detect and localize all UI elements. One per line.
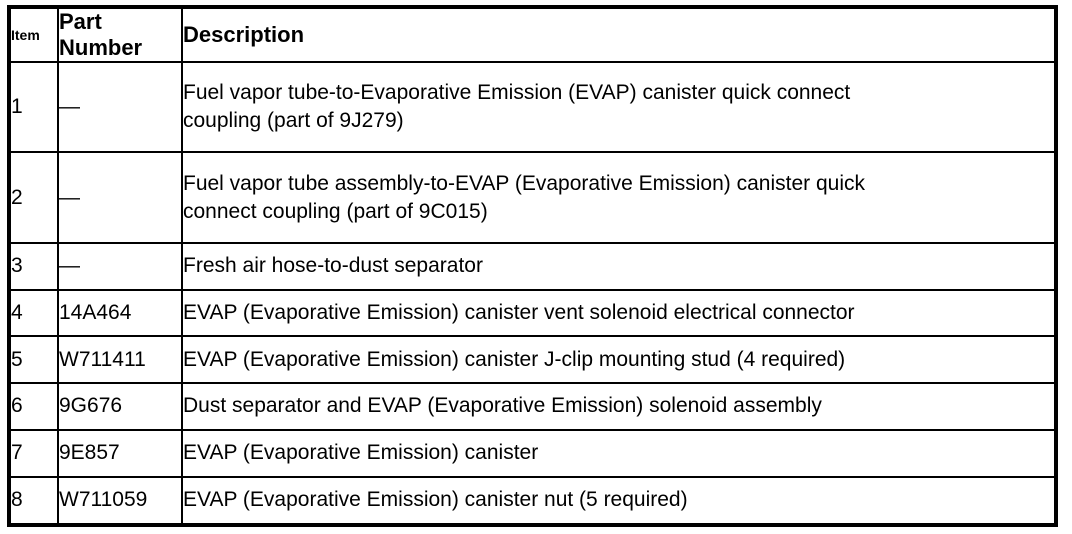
cell-description: EVAP (Evaporative Emission) canister J-c… [182, 336, 1056, 383]
column-header-description: Description [182, 7, 1056, 62]
cell-part-number: 14A464 [58, 290, 182, 337]
table-row: 6 9G676 Dust separator and EVAP (Evapora… [9, 383, 1056, 430]
cell-item: 4 [9, 290, 58, 337]
cell-description: Dust separator and EVAP (Evaporative Emi… [182, 383, 1056, 430]
parts-table-container: Item Part Number Description 1 — Fuel va… [7, 5, 1058, 527]
cell-item: 2 [9, 152, 58, 242]
cell-part-number: — [58, 152, 182, 242]
description-line: Dust separator and EVAP (Evaporative Emi… [183, 392, 1054, 420]
table-row: 5 W711411 EVAP (Evaporative Emission) ca… [9, 336, 1056, 383]
description-line: EVAP (Evaporative Emission) canister nut… [183, 486, 1054, 514]
description-line: EVAP (Evaporative Emission) canister [183, 439, 1054, 467]
cell-description: EVAP (Evaporative Emission) canister ven… [182, 290, 1056, 337]
description-line: Fuel vapor tube assembly-to-EVAP (Evapor… [183, 170, 1054, 198]
column-header-part-number-line2: Number [59, 35, 181, 61]
table-row: 1 — Fuel vapor tube-to-Evaporative Emiss… [9, 62, 1056, 152]
description-line: Fresh air hose-to-dust separator [183, 252, 1054, 280]
cell-item: 7 [9, 430, 58, 477]
description-line: EVAP (Evaporative Emission) canister ven… [183, 299, 1054, 327]
table-row: 8 W711059 EVAP (Evaporative Emission) ca… [9, 477, 1056, 525]
cell-part-number: W711411 [58, 336, 182, 383]
description-line: EVAP (Evaporative Emission) canister J-c… [183, 346, 1054, 374]
column-header-part-number: Part Number [58, 7, 182, 62]
cell-description: Fuel vapor tube-to-Evaporative Emission … [182, 62, 1056, 152]
table-row: 2 — Fuel vapor tube assembly-to-EVAP (Ev… [9, 152, 1056, 242]
cell-item: 5 [9, 336, 58, 383]
cell-description: Fuel vapor tube assembly-to-EVAP (Evapor… [182, 152, 1056, 242]
description-line: connect coupling (part of 9C015) [183, 198, 1054, 226]
header-row: Item Part Number Description [9, 7, 1056, 62]
table-row: 7 9E857 EVAP (Evaporative Emission) cani… [9, 430, 1056, 477]
cell-item: 8 [9, 477, 58, 525]
table-body: 1 — Fuel vapor tube-to-Evaporative Emiss… [9, 62, 1056, 525]
table-row: 4 14A464 EVAP (Evaporative Emission) can… [9, 290, 1056, 337]
cell-description: Fresh air hose-to-dust separator [182, 243, 1056, 290]
cell-part-number: 9E857 [58, 430, 182, 477]
cell-part-number: — [58, 243, 182, 290]
cell-item: 6 [9, 383, 58, 430]
cell-part-number: W711059 [58, 477, 182, 525]
cell-item: 1 [9, 62, 58, 152]
cell-part-number: 9G676 [58, 383, 182, 430]
table-row: 3 — Fresh air hose-to-dust separator [9, 243, 1056, 290]
cell-description: EVAP (Evaporative Emission) canister [182, 430, 1056, 477]
column-header-item: Item [9, 7, 58, 62]
description-line: coupling (part of 9J279) [183, 107, 1054, 135]
cell-part-number: — [58, 62, 182, 152]
cell-description: EVAP (Evaporative Emission) canister nut… [182, 477, 1056, 525]
parts-table: Item Part Number Description 1 — Fuel va… [7, 5, 1058, 527]
table-header: Item Part Number Description [9, 7, 1056, 62]
description-line: Fuel vapor tube-to-Evaporative Emission … [183, 79, 1054, 107]
cell-item: 3 [9, 243, 58, 290]
column-header-part-number-line1: Part [59, 9, 181, 35]
